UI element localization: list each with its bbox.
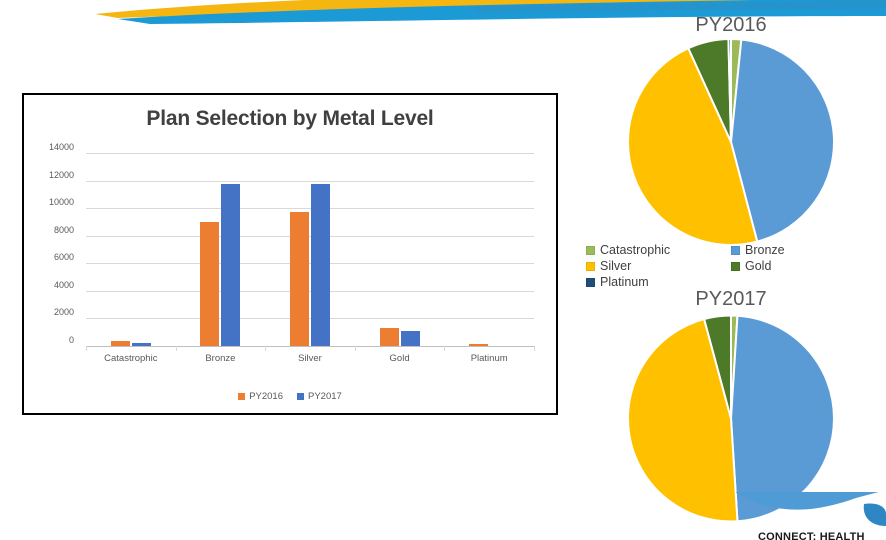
x-axis-tickmark — [534, 346, 535, 351]
legend-swatch-icon — [586, 246, 595, 255]
pie-legend-label: Silver — [600, 259, 631, 273]
y-axis-tick-label: 4000 — [54, 280, 74, 290]
logo-swoosh-large — [736, 492, 886, 510]
y-axis-tick-label: 6000 — [54, 252, 74, 262]
x-axis-category-label: Silver — [265, 353, 355, 364]
bar-group — [444, 153, 534, 346]
bar-groups — [86, 153, 534, 346]
pie-legend-label: Catastrophic — [600, 243, 670, 257]
pie-legend-label: Bronze — [745, 243, 785, 257]
bar-py2017-silver[interactable] — [311, 184, 330, 346]
bar-py2016-gold[interactable] — [380, 328, 399, 346]
pie-py2017-block: PY2017 — [586, 288, 876, 526]
bar-chart-legend: PY2016PY2017 — [24, 391, 556, 402]
x-axis-tickmark — [176, 346, 177, 351]
x-axis-tickmark — [444, 346, 445, 351]
x-axis-tickmark — [86, 346, 87, 351]
x-axis-category-label: Platinum — [444, 353, 534, 364]
bar-py2016-silver[interactable] — [290, 212, 309, 346]
pie-svg — [586, 37, 876, 247]
connect-health-logo: CONNECT: HEALTH — [736, 492, 886, 540]
bar-legend-label: PY2017 — [308, 391, 342, 402]
pie-legend-item-catastrophic[interactable]: Catastrophic — [586, 243, 731, 257]
y-axis-tick-label: 10000 — [49, 197, 74, 207]
pie-legend-row: Platinum — [586, 275, 876, 289]
y-axis-tick-label: 14000 — [49, 142, 74, 152]
logo-swoosh-small — [864, 503, 886, 526]
bar-py2016-bronze[interactable] — [200, 222, 219, 346]
bar-legend-item-PY2017[interactable]: PY2017 — [297, 391, 342, 402]
legend-swatch-icon — [731, 262, 740, 271]
pie-slice-bronze[interactable] — [731, 316, 834, 522]
x-axis-tickmark — [355, 346, 356, 351]
x-axis-category-label: Bronze — [176, 353, 266, 364]
legend-swatch-icon — [586, 262, 595, 271]
bar-py2017-bronze[interactable] — [221, 184, 240, 346]
x-axis-tickmarks — [86, 346, 534, 351]
bar-group — [355, 153, 445, 346]
bar-chart-title: Plan Selection by Metal Level — [24, 107, 556, 131]
bar-py2017-gold[interactable] — [401, 331, 420, 346]
pie-py2016-chart — [586, 37, 876, 247]
y-axis-tick-label: 8000 — [54, 225, 74, 235]
legend-swatch-icon — [238, 393, 245, 400]
pie-py2016-block: PY2016 — [586, 14, 876, 247]
pie-legend-row: SilverGold — [586, 259, 876, 273]
pie-legend-item-gold[interactable]: Gold — [731, 259, 876, 273]
pie-legend-item-silver[interactable]: Silver — [586, 259, 731, 273]
pie-legend-label: Platinum — [600, 275, 649, 289]
y-axis-tick-label: 12000 — [49, 170, 74, 180]
x-axis-labels: CatastrophicBronzeSilverGoldPlatinum — [86, 353, 534, 364]
pie-legend: CatastrophicBronzeSilverGoldPlatinum — [586, 243, 876, 291]
legend-swatch-icon — [586, 278, 595, 287]
slide-canvas: Plan Selection by Metal Level 0200040006… — [0, 0, 886, 540]
bar-chart-plot-area — [86, 153, 534, 346]
pie-legend-item-bronze[interactable]: Bronze — [731, 243, 876, 257]
y-axis-labels: 02000400060008000100001200014000 — [24, 147, 80, 346]
bar-chart-panel: Plan Selection by Metal Level 0200040006… — [22, 93, 558, 415]
x-axis-tickmark — [265, 346, 266, 351]
bar-group — [176, 153, 266, 346]
pie-py2017-title: PY2017 — [586, 288, 876, 311]
bar-legend-item-PY2016[interactable]: PY2016 — [238, 391, 283, 402]
pie-legend-item-platinum[interactable]: Platinum — [586, 275, 731, 289]
y-axis-tick-label: 0 — [69, 335, 74, 345]
pie-legend-label: Gold — [745, 259, 771, 273]
pie-legend-row: CatastrophicBronze — [586, 243, 876, 257]
legend-swatch-icon — [297, 393, 304, 400]
legend-swatch-icon — [731, 246, 740, 255]
bar-group — [86, 153, 176, 346]
pie-py2016-title: PY2016 — [586, 14, 876, 37]
logo-wordmark: CONNECT: HEALTH — [758, 531, 865, 540]
x-axis-category-label: Gold — [355, 353, 445, 364]
bar-legend-label: PY2016 — [249, 391, 283, 402]
x-axis-category-label: Catastrophic — [86, 353, 176, 364]
y-axis-tick-label: 2000 — [54, 307, 74, 317]
bar-group — [265, 153, 355, 346]
